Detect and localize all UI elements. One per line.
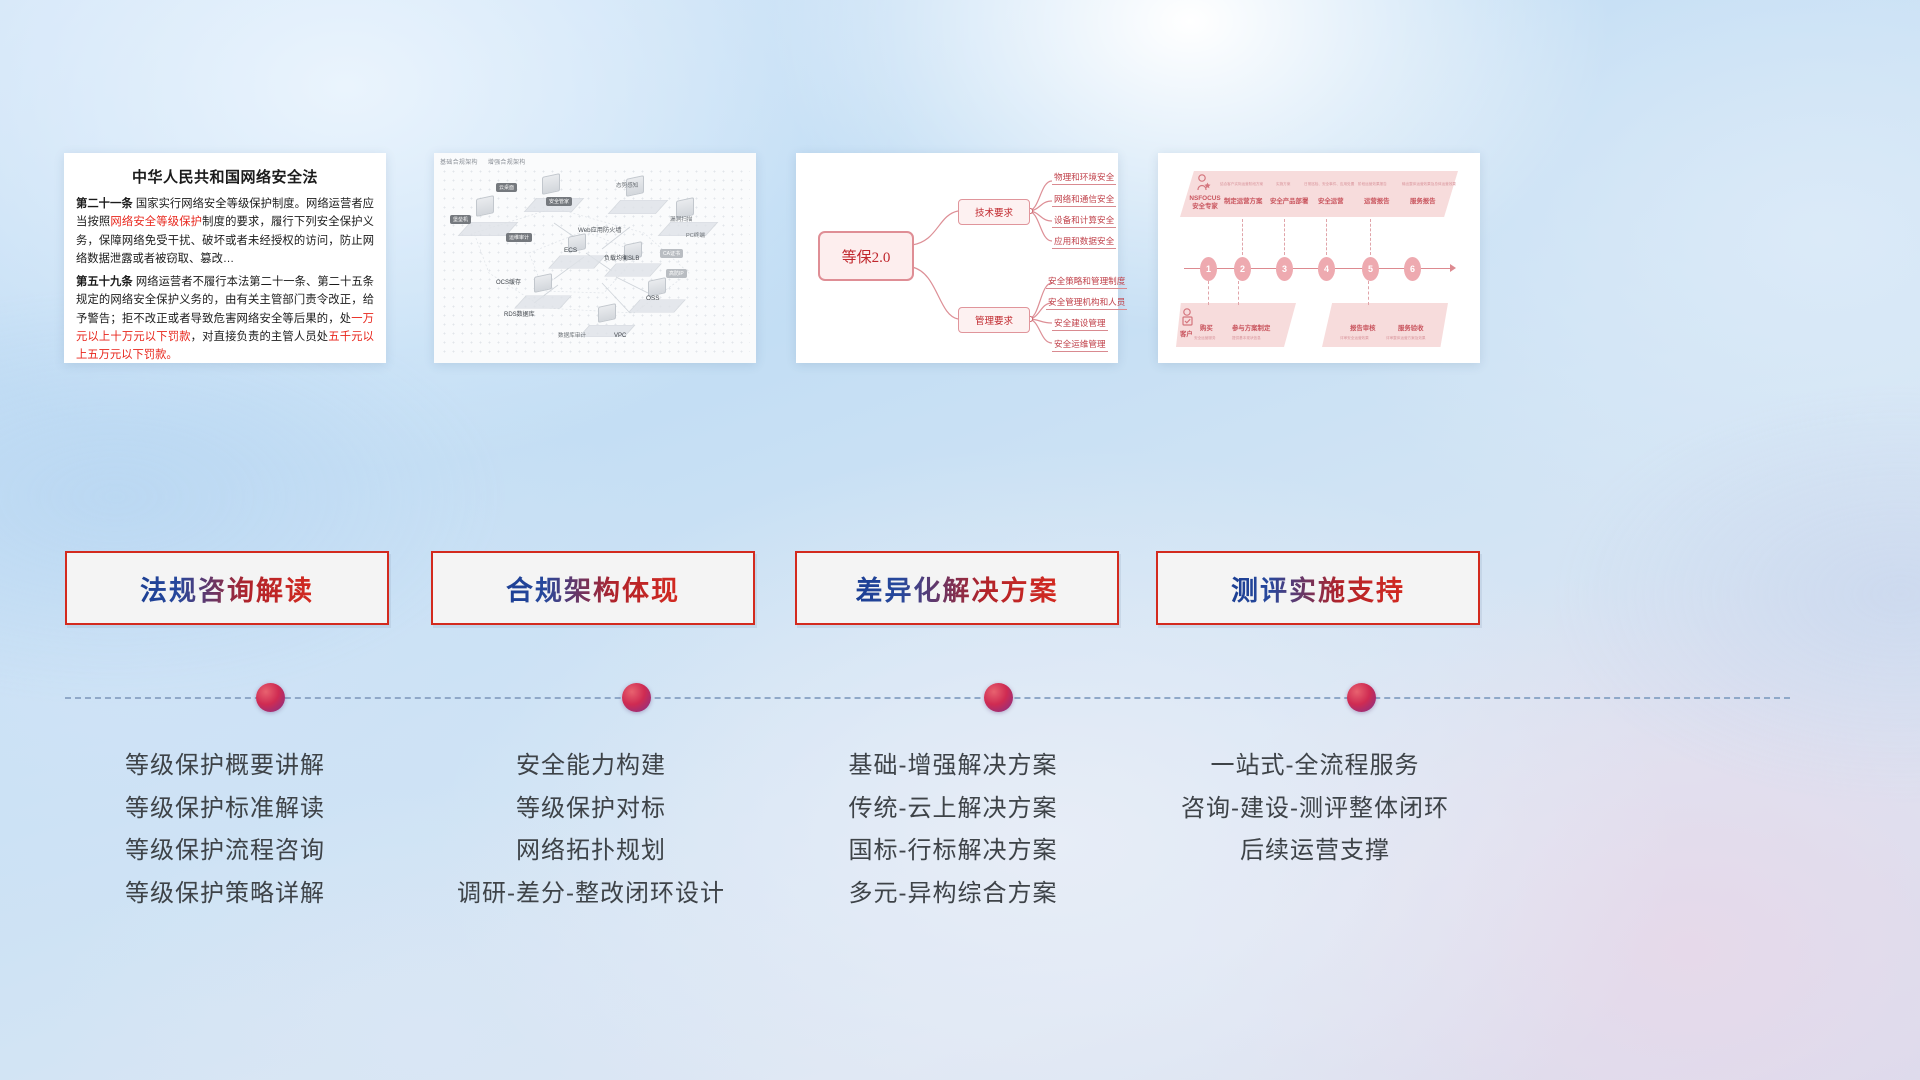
timeline-dashed-line [65,697,1790,699]
heading-label: 测评实施支持 [1231,569,1405,608]
heading-box-compliance-architecture[interactable]: 合规架构体现 [431,551,755,625]
bullet-column-1: 等级保护概要讲解 等级保护标准解读 等级保护流程咨询 等级保护策略详解 [45,745,405,916]
bullet-column-2: 安全能力构建 等级保护对标 网络拓扑规划 调研-差分-整改闭环设计 [411,745,771,916]
heading-label: 法规咨询解读 [140,569,314,608]
list-item: 等级保护标准解读 [45,788,405,831]
timeline-marker-dot [256,683,285,712]
list-item: 多元-异构综合方案 [773,873,1133,916]
timeline-marker-dot [622,683,651,712]
heading-box-differentiated-solution[interactable]: 差异化解决方案 [795,551,1119,625]
list-item: 后续运营支撑 [1135,830,1495,873]
list-item: 网络拓扑规划 [411,830,771,873]
list-item: 等级保护策略详解 [45,873,405,916]
list-item: 调研-差分-整改闭环设计 [411,873,771,916]
heading-box-regulation-consulting[interactable]: 法规咨询解读 [65,551,389,625]
headings-row: 法规咨询解读 合规架构体现 差异化解决方案 测评实施支持 等级保护概要讲解 等级… [0,0,1920,1080]
list-item: 传统-云上解决方案 [773,788,1133,831]
bullet-column-4: 一站式-全流程服务 咨询-建设-测评整体闭环 后续运营支撑 [1135,745,1495,873]
list-item: 咨询-建设-测评整体闭环 [1135,788,1495,831]
list-item: 一站式-全流程服务 [1135,745,1495,788]
list-item: 等级保护流程咨询 [45,830,405,873]
heading-box-evaluation-support[interactable]: 测评实施支持 [1156,551,1480,625]
list-item: 基础-增强解决方案 [773,745,1133,788]
list-item: 安全能力构建 [411,745,771,788]
heading-label: 合规架构体现 [506,569,680,608]
bullet-column-3: 基础-增强解决方案 传统-云上解决方案 国标-行标解决方案 多元-异构综合方案 [773,745,1133,916]
list-item: 等级保护概要讲解 [45,745,405,788]
timeline-marker-dot [984,683,1013,712]
timeline-marker-dot [1347,683,1376,712]
list-item: 等级保护对标 [411,788,771,831]
list-item: 国标-行标解决方案 [773,830,1133,873]
heading-label: 差异化解决方案 [856,569,1059,608]
